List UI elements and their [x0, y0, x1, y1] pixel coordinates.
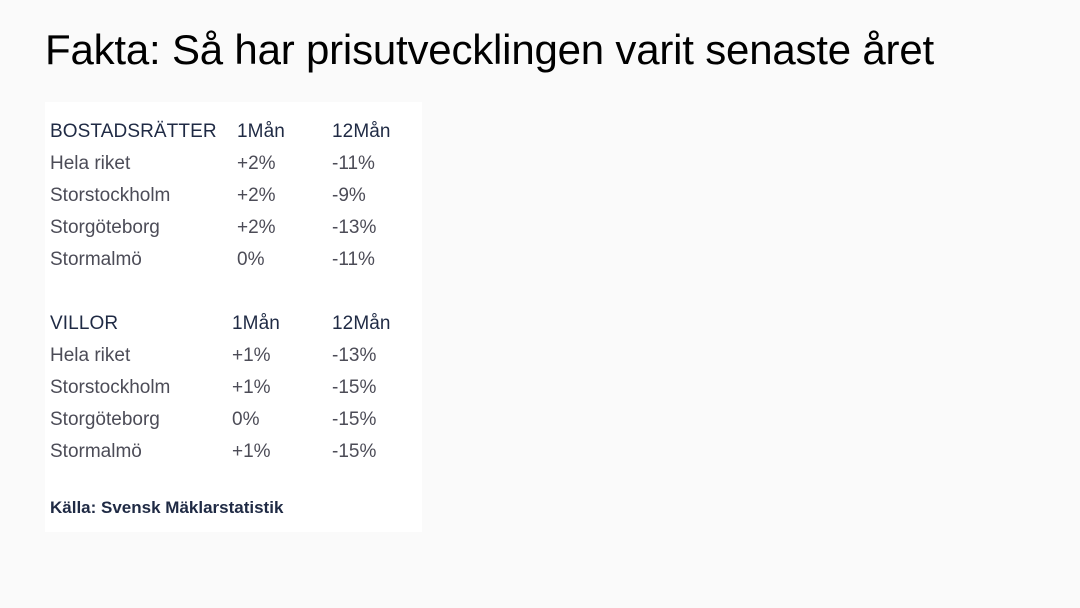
row-label: Hela riket [50, 340, 232, 372]
table-row: Storstockholm +2% -9% [50, 180, 400, 212]
row-value-12man: -11% [332, 244, 400, 276]
table-villor: VILLOR 1Mån 12Mån Hela riket +1% -13% St… [50, 308, 400, 468]
row-value-1man: +2% [237, 148, 332, 180]
row-value-1man: 0% [232, 404, 332, 436]
row-label: Stormalmö [50, 436, 232, 468]
column-header-12man: 12Mån [332, 116, 400, 148]
row-value-1man: +1% [232, 372, 332, 404]
row-value-12man: -13% [332, 340, 400, 372]
row-value-1man: +1% [232, 340, 332, 372]
row-label: Hela riket [50, 148, 237, 180]
column-header-12man: 12Mån [332, 308, 400, 340]
column-header-1man: 1Mån [237, 116, 332, 148]
row-value-12man: -15% [332, 372, 400, 404]
row-value-12man: -11% [332, 148, 400, 180]
row-value-12man: -9% [332, 180, 400, 212]
table-row: Storgöteborg 0% -15% [50, 404, 400, 436]
row-label: Storgöteborg [50, 404, 232, 436]
row-value-1man: +1% [232, 436, 332, 468]
column-header-1man: 1Mån [232, 308, 332, 340]
table-row: Stormalmö +1% -15% [50, 436, 400, 468]
table-header-row: VILLOR 1Mån 12Mån [50, 308, 400, 340]
row-label: Stormalmö [50, 244, 237, 276]
column-header-category: BOSTADSRÄTTER [50, 116, 237, 148]
table-row: Storstockholm +1% -15% [50, 372, 400, 404]
table-row: Hela riket +1% -13% [50, 340, 400, 372]
column-header-category: VILLOR [50, 308, 232, 340]
table-spacer [50, 276, 422, 308]
table-bostadsratter: BOSTADSRÄTTER 1Mån 12Mån Hela riket +2% … [50, 116, 400, 276]
row-label: Storstockholm [50, 180, 237, 212]
row-value-1man: +2% [237, 212, 332, 244]
statistics-card: BOSTADSRÄTTER 1Mån 12Mån Hela riket +2% … [45, 102, 422, 532]
table-row: Hela riket +2% -11% [50, 148, 400, 180]
row-value-1man: +2% [237, 180, 332, 212]
table-header-row: BOSTADSRÄTTER 1Mån 12Mån [50, 116, 400, 148]
page-title: Fakta: Så har prisutvecklingen varit sen… [45, 22, 1045, 78]
table-row: Stormalmö 0% -11% [50, 244, 400, 276]
card-content: BOSTADSRÄTTER 1Mån 12Mån Hela riket +2% … [50, 116, 422, 532]
row-label: Storgöteborg [50, 212, 237, 244]
row-value-12man: -15% [332, 404, 400, 436]
row-value-12man: -13% [332, 212, 400, 244]
row-value-12man: -15% [332, 436, 400, 468]
row-value-1man: 0% [237, 244, 332, 276]
row-label: Storstockholm [50, 372, 232, 404]
source-attribution: Källa: Svensk Mäklarstatistik [50, 498, 422, 518]
table-row: Storgöteborg +2% -13% [50, 212, 400, 244]
